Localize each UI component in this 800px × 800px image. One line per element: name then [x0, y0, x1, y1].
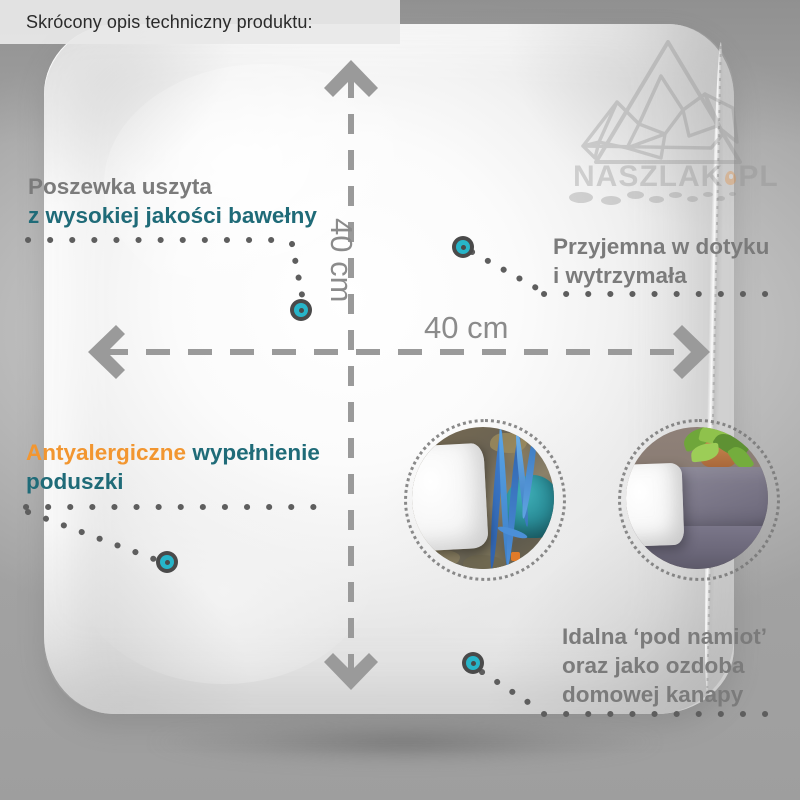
pillow-product-image	[44, 24, 734, 714]
callout-cover-material: Poszewka uszyta z wysokiej jakości baweł…	[28, 172, 317, 230]
height-dimension-label: 40 cm	[323, 218, 359, 302]
callout-touch-durability-line1: Przyjemna w dotyku	[553, 232, 769, 261]
callout-marker-usage	[462, 652, 484, 674]
leaf-shape	[418, 549, 461, 567]
callout-cover-material-line2: z wysokiej jakości bawełny	[28, 201, 317, 230]
leaf-shape	[463, 555, 503, 569]
callout-usage-line3: domowej kanapy	[562, 680, 767, 709]
pillow-in-photo-outdoor	[412, 443, 489, 553]
width-dimension-label: 40 cm	[424, 310, 508, 346]
callout-usage: Idalna ‘pod namiot’ oraz jako ozdoba dom…	[562, 622, 767, 709]
product-drop-shadow	[60, 706, 750, 778]
pillow-body	[44, 24, 734, 714]
callout-usage-line2: oraz jako ozdoba	[562, 651, 767, 680]
callout-filling-line1: Antyalergiczne wypełnienie	[26, 438, 320, 467]
callout-marker-cover-material	[290, 299, 312, 321]
photo-outdoor-content	[412, 427, 554, 569]
infographic-canvas: NASZLAK PL 40 cm 40 cm	[0, 0, 800, 800]
callout-marker-filling	[156, 551, 178, 573]
carabiner-accent	[511, 552, 520, 561]
horizontal-dimension-line	[104, 349, 694, 355]
photo-indoor-content	[626, 427, 768, 569]
vertical-dimension-line	[348, 78, 354, 680]
callout-touch-durability: Przyjemna w dotyku i wytrzymała	[553, 232, 769, 290]
header-banner: Skrócony opis techniczny produktu:	[0, 0, 400, 44]
callout-marker-touch-durability	[452, 236, 474, 258]
pillow-in-photo-indoor	[626, 463, 684, 548]
callout-filling-line1-rest: wypełnienie	[192, 440, 320, 465]
callout-usage-line1: Idalna ‘pod namiot’	[562, 622, 767, 651]
page-title: Skrócony opis techniczny produktu:	[26, 12, 313, 33]
callout-filling: Antyalergiczne wypełnienie poduszki	[26, 438, 320, 496]
callout-touch-durability-line2: i wytrzymała	[553, 261, 769, 290]
photo-indoor-inset	[626, 427, 768, 569]
callout-filling-highlight: Antyalergiczne	[26, 440, 186, 465]
photo-outdoor-inset	[412, 427, 554, 569]
callout-cover-material-line1: Poszewka uszyta	[28, 172, 317, 201]
callout-filling-line2: poduszki	[26, 467, 320, 496]
